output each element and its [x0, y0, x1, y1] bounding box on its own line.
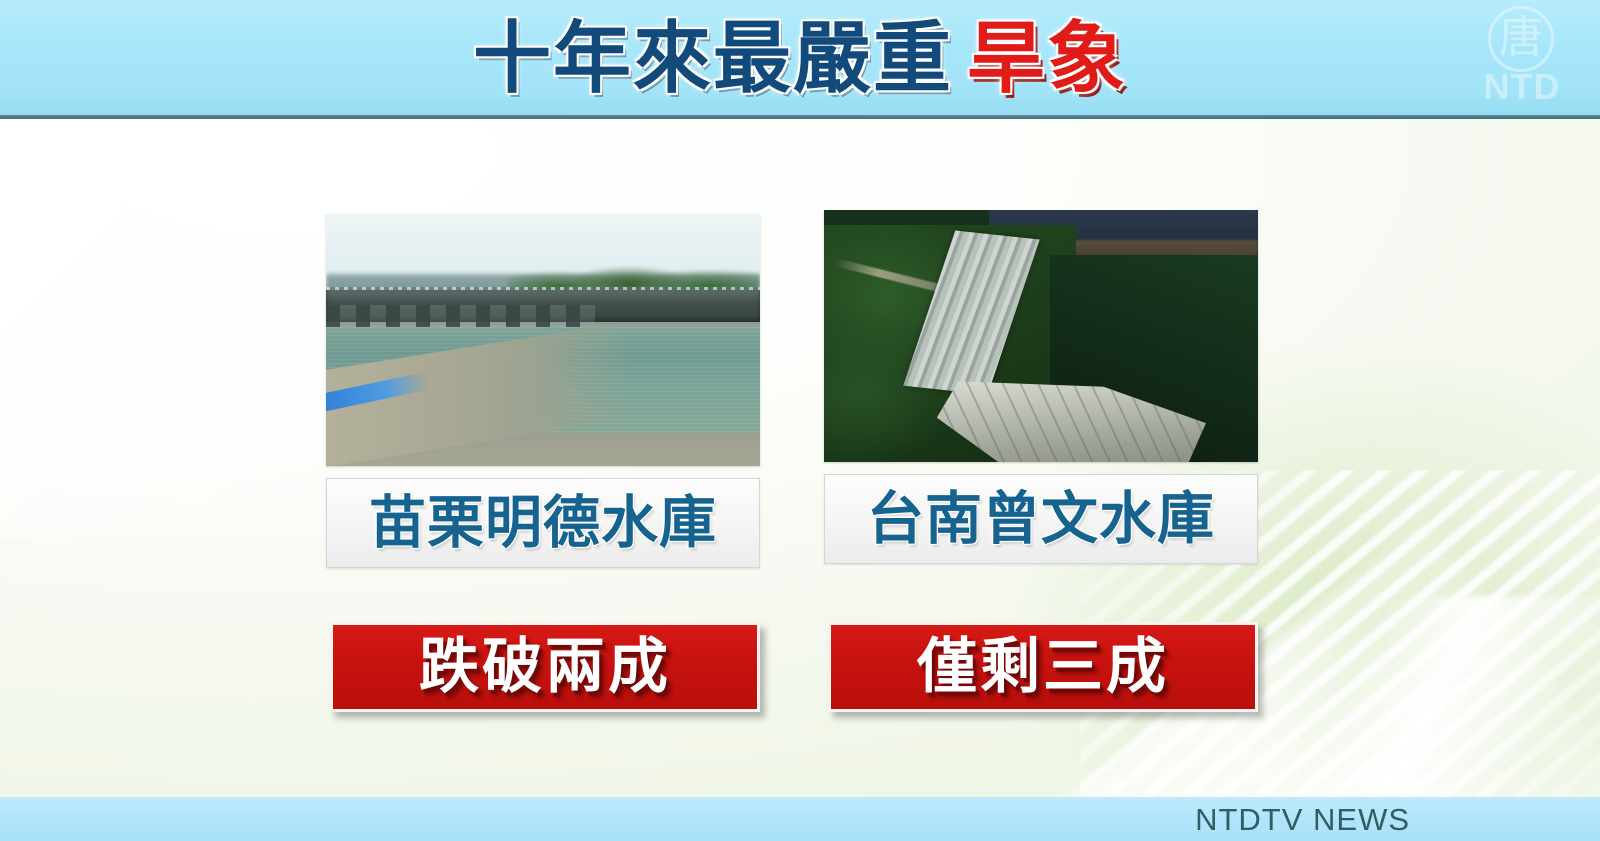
miaoli-mingde-reservoir-photo	[326, 214, 760, 466]
status-banner-right: 僅剩三成	[828, 622, 1258, 712]
photo-frame-left	[326, 214, 760, 466]
caption-box-left: 苗栗明德水庫	[326, 478, 760, 568]
caption-label-right: 台南曾文水庫	[867, 491, 1215, 548]
caption-box-right: 台南曾文水庫	[824, 474, 1258, 564]
headline-accent: 旱象	[967, 14, 1127, 102]
reservoir-card-right: 台南曾文水庫	[824, 210, 1258, 564]
footer-band: NTDTV NEWS	[0, 797, 1600, 841]
reservoir-card-left: 苗栗明德水庫	[326, 214, 760, 568]
status-banner-label-right: 僅剩三成	[917, 637, 1169, 697]
tainan-zengwen-reservoir-photo	[824, 210, 1258, 462]
status-banner-left: 跌破兩成	[330, 622, 760, 712]
page-title: 十年來最嚴重旱象	[0, 8, 1600, 108]
photo-frame-right	[824, 210, 1258, 462]
channel-name: NTDTV NEWS	[1195, 801, 1410, 839]
broadcast-graphic: 十年來最嚴重旱象 唐 NTD 苗栗明德水庫	[0, 0, 1600, 841]
headline-main: 十年來最嚴重	[473, 14, 953, 102]
status-banner-label-left: 跌破兩成	[419, 637, 671, 697]
caption-label-left: 苗栗明德水庫	[369, 495, 717, 552]
